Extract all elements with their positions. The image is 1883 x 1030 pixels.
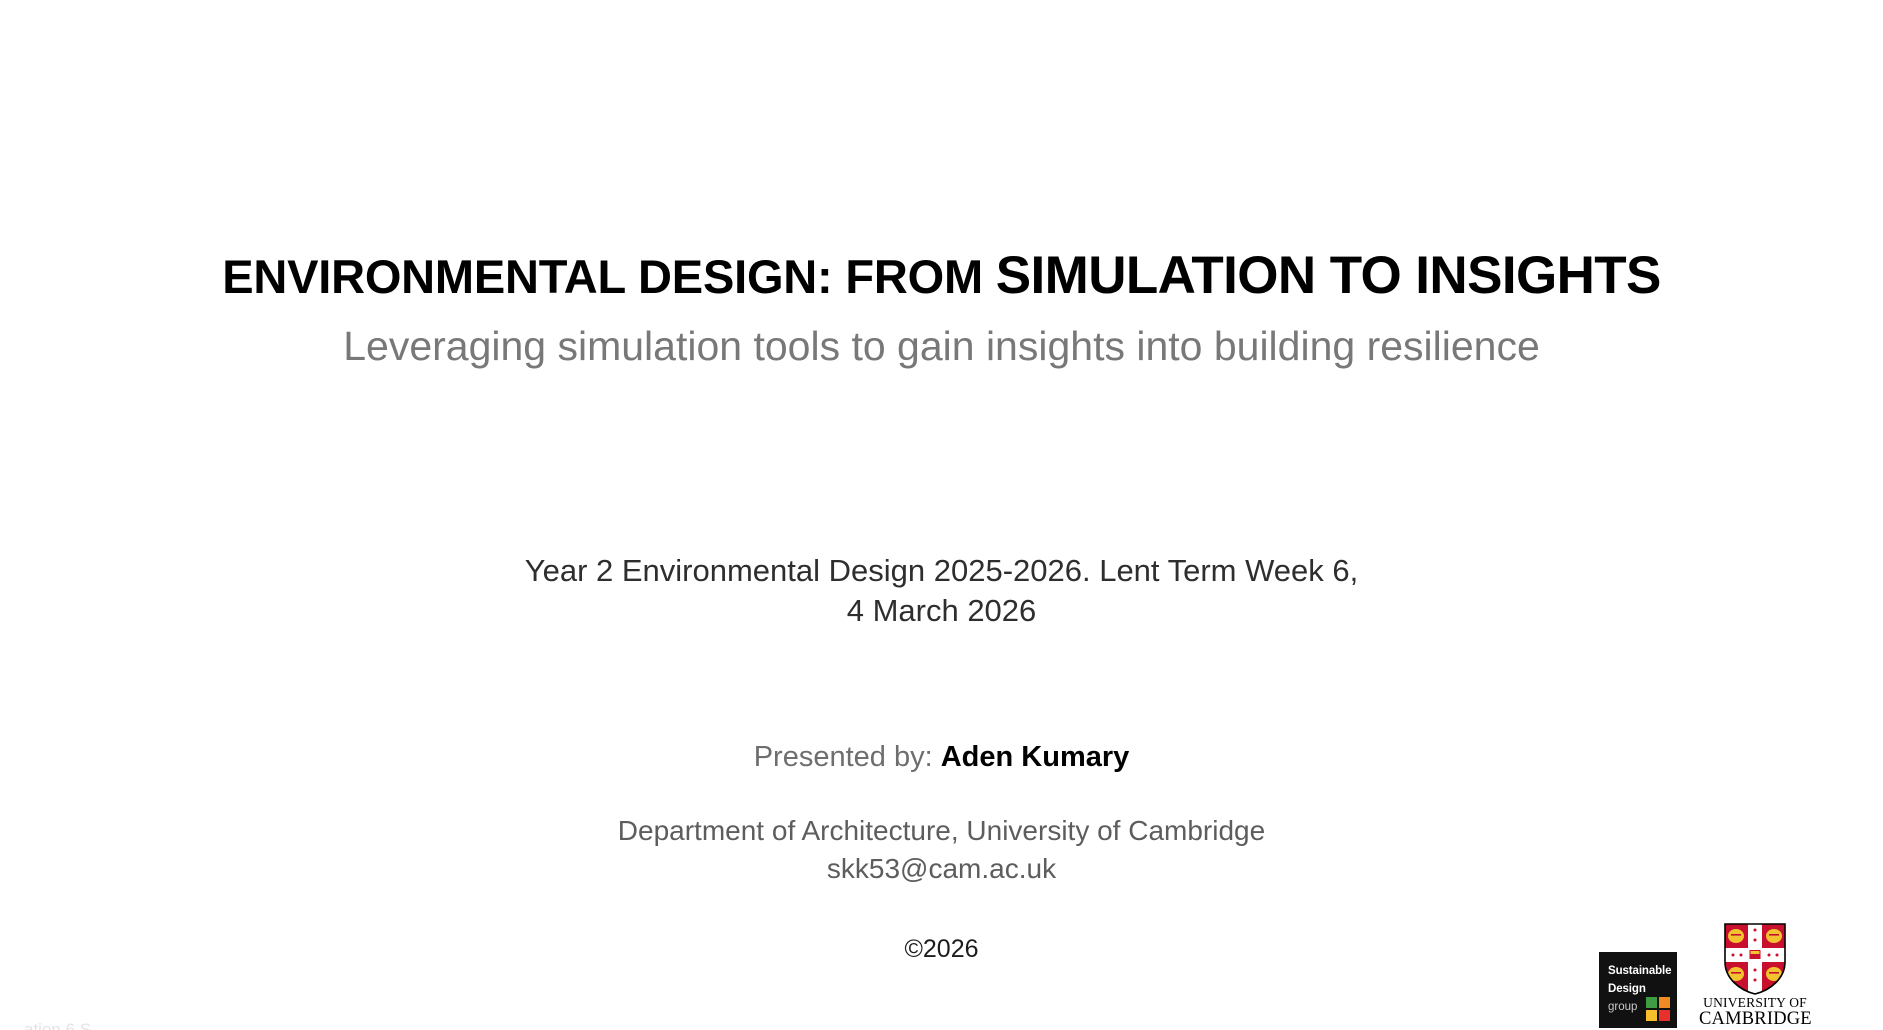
cambridge-crest-icon <box>1723 922 1787 996</box>
sdg-logo-line-2: Design <box>1608 983 1646 995</box>
title-slide: ENVIRONMENTAL DESIGN: FROM SIMULATION TO… <box>0 0 1883 1030</box>
presenter-line: Presented by: Aden Kumary <box>0 740 1883 775</box>
course-date-line: 4 March 2026 <box>0 591 1883 631</box>
course-info: Year 2 Environmental Design 2025-2026. L… <box>0 551 1883 630</box>
department-line: Department of Architecture, University o… <box>0 812 1883 850</box>
page-title-segment-primary: ENVIRONMENTAL DESIGN: FROM <box>222 250 996 303</box>
cambridge-wordmark-line-2: CAMBRIDGE <box>1699 1010 1811 1029</box>
cambridge-wordmark: UNIVERSITY OF CAMBRIDGE <box>1699 996 1811 1028</box>
page-subtitle: Leveraging simulation tools to gain insi… <box>60 324 1823 369</box>
course-term-line: Year 2 Environmental Design 2025-2026. L… <box>0 551 1883 591</box>
cropped-bottom-artifact: ation 6 S <box>24 1020 254 1030</box>
sdg-logo-swatch-grid <box>1646 997 1670 1021</box>
university-of-cambridge-logo: UNIVERSITY OF CAMBRIDGE <box>1699 922 1811 1028</box>
page-title-segment-emphasis: SIMULATION TO INSIGHTS <box>996 246 1661 305</box>
cambridge-wordmark-line-1: UNIVERSITY OF <box>1699 996 1811 1010</box>
sustainable-design-group-logo: Sustainable Design group <box>1599 952 1677 1028</box>
logo-bar: Sustainable Design group <box>1599 922 1811 1028</box>
sdg-swatch-green-icon <box>1646 997 1657 1008</box>
title-block: ENVIRONMENTAL DESIGN: FROM SIMULATION TO… <box>0 248 1883 369</box>
presenter-name: Aden Kumary <box>941 741 1130 773</box>
sdg-swatch-yellow-icon <box>1646 1010 1657 1021</box>
email-address[interactable]: skk53@cam.ac.uk <box>0 850 1883 888</box>
page-title: ENVIRONMENTAL DESIGN: FROM SIMULATION TO… <box>60 248 1823 304</box>
affiliation-block: Department of Architecture, University o… <box>0 812 1883 888</box>
sdg-logo-line-3: group <box>1608 1001 1637 1013</box>
sdg-swatch-orange-icon <box>1659 997 1670 1008</box>
sdg-logo-line-1: Sustainable <box>1608 965 1671 977</box>
sdg-swatch-red-icon <box>1659 1010 1670 1021</box>
presented-by-label: Presented by: <box>754 741 933 773</box>
